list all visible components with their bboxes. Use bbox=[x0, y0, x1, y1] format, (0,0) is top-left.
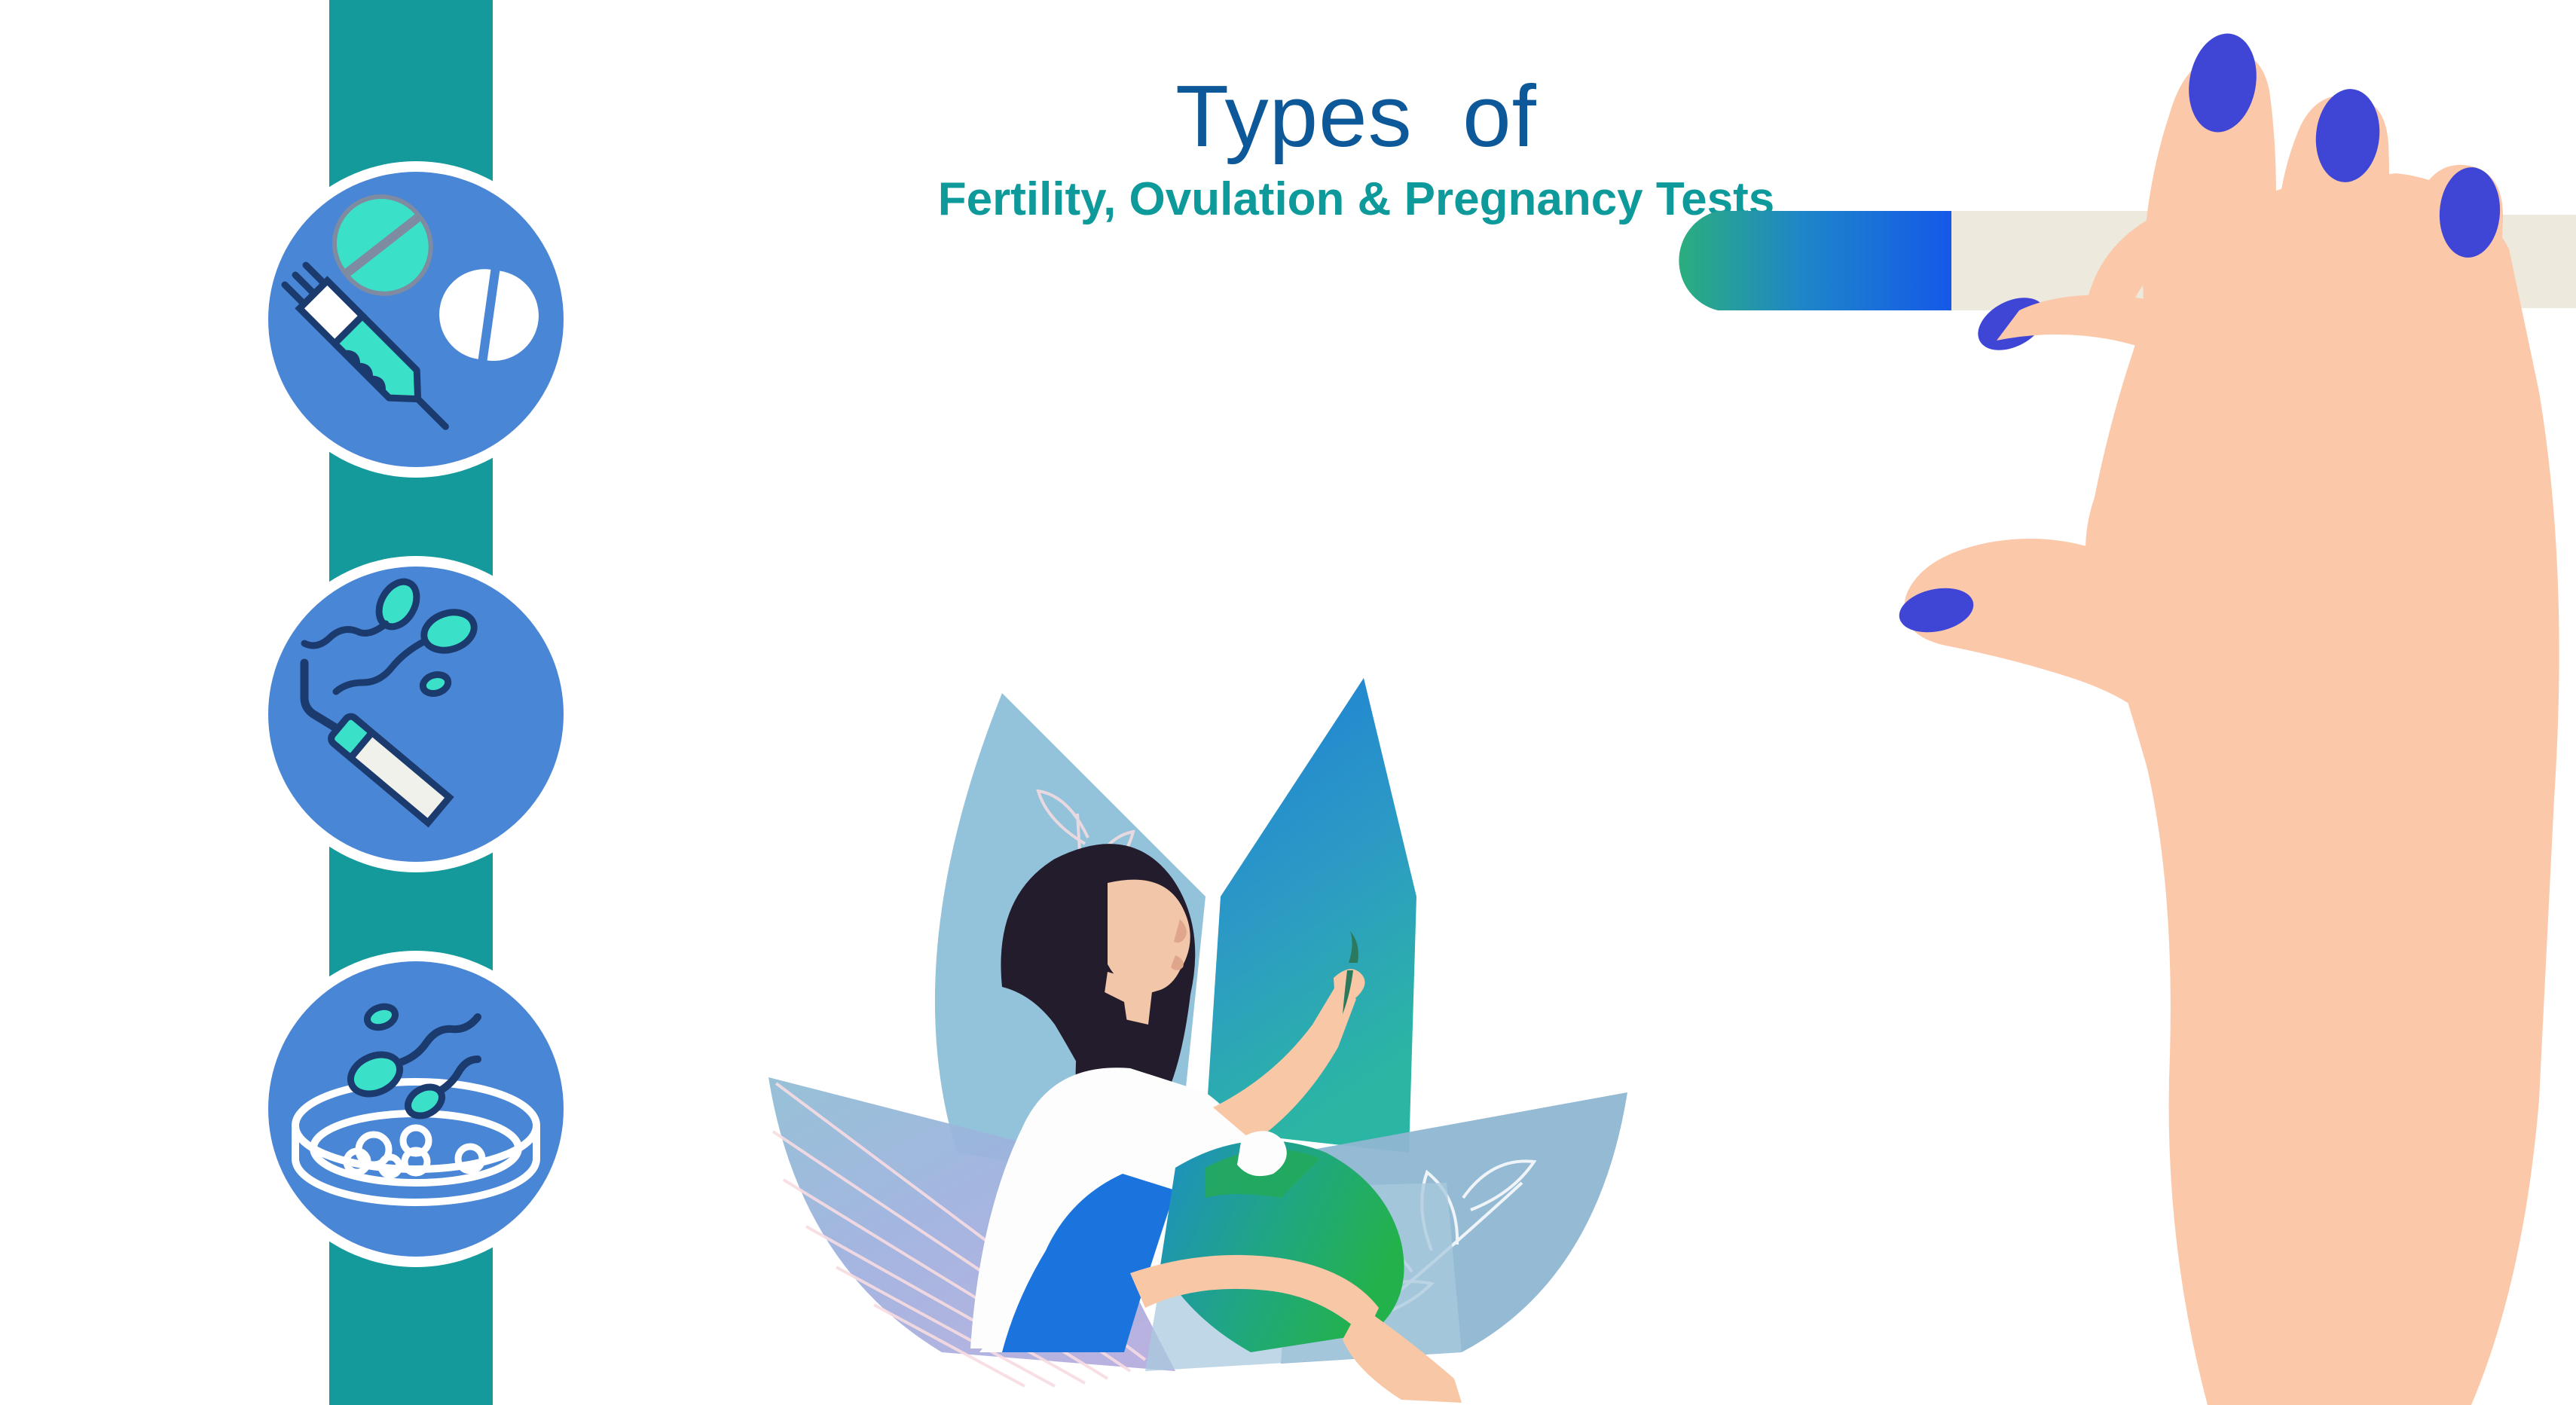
pills-and-syringe-icon[interactable] bbox=[258, 161, 574, 478]
hand-holding-pregnancy-test bbox=[1469, 0, 2576, 1405]
test-stick-cap bbox=[1679, 211, 1951, 310]
sperm-and-test-device-icon[interactable] bbox=[258, 556, 574, 872]
petri-dish-ivf-icon[interactable] bbox=[258, 951, 574, 1267]
icon-stack bbox=[249, 0, 580, 1405]
